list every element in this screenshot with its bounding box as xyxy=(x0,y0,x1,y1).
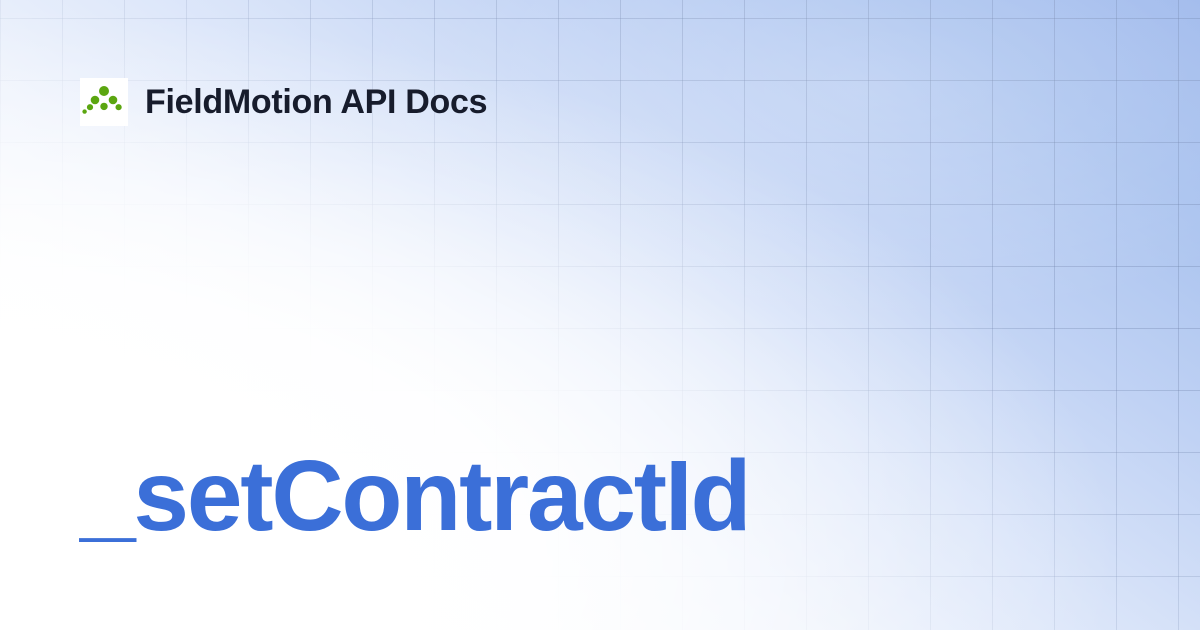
fieldmotion-dots-logo-icon xyxy=(80,78,128,126)
brand-name-label: FieldMotion API Docs xyxy=(145,85,487,119)
brand-header[interactable]: FieldMotion API Docs xyxy=(80,78,487,126)
page-title: _setContractId xyxy=(80,443,749,549)
og-card: FieldMotion API Docs _setContractId xyxy=(0,0,1200,630)
